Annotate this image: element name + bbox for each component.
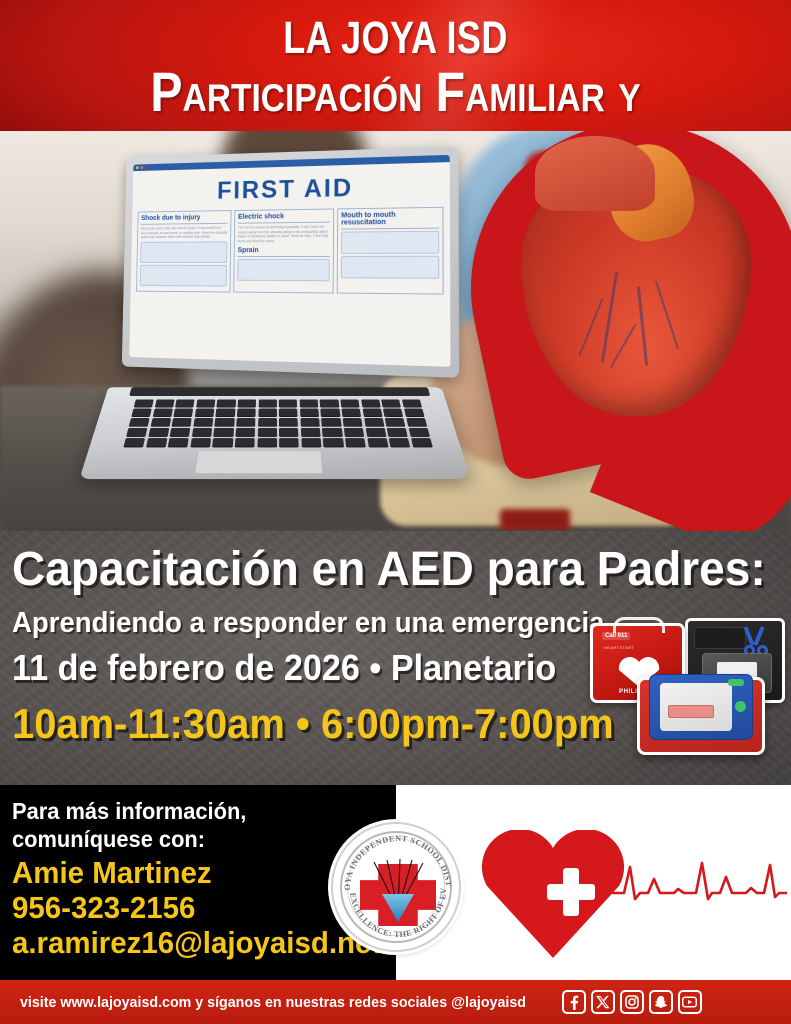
section-heading: Mouth to mouth resuscitation <box>341 211 439 230</box>
aed-status-strip <box>728 679 744 686</box>
event-subtitle: Aprendiendo a responder en una emergenci… <box>12 607 604 639</box>
heart-plus-icon <box>479 830 627 958</box>
laptop-screen: FIRST AID Shock due to injury Shock can … <box>129 155 450 367</box>
hero-photo: FIRST AID Shock due to injury Shock can … <box>0 131 791 531</box>
laptop-keyboard <box>123 399 432 447</box>
section-figure <box>140 241 227 263</box>
contact-email[interactable]: a.ramirez16@lajoyaisd.net <box>12 925 381 960</box>
x-twitter-icon[interactable] <box>591 990 615 1014</box>
photo-laptop: FIRST AID Shock due to injury Shock can … <box>95 151 455 531</box>
aed-kit-graphic: Call 911 HEARTSTART PHILIPS <box>585 615 785 765</box>
contact-name: Amie Martinez <box>12 855 212 890</box>
laptop-lid: FIRST AID Shock due to injury Shock can … <box>122 146 459 377</box>
facebook-icon[interactable] <box>562 990 586 1014</box>
section-figure <box>341 256 439 279</box>
section-figure <box>140 265 227 287</box>
footer-website-text: visite www.lajoyaisd.com y síganos en nu… <box>20 994 526 1011</box>
laptop-trackpad <box>194 450 323 474</box>
youtube-icon[interactable] <box>678 990 702 1014</box>
event-title: Capacitación en AED para Padres: <box>12 544 766 596</box>
aed-heartstart-label: HEARTSTART <box>604 645 634 650</box>
snapchat-icon[interactable] <box>649 990 673 1014</box>
district-seal-logo: LA JOYA INDEPENDENT SCHOOL DISTRICT EDUC… <box>331 822 461 952</box>
district-name: LA JOYA ISD <box>79 14 712 62</box>
ekg-waveform-icon <box>612 855 787 915</box>
section-body: Turn off the source of electricity if po… <box>238 225 330 244</box>
social-links <box>562 990 702 1014</box>
contact-intro-line1: Para más información, <box>12 798 246 825</box>
section-figure <box>237 259 330 281</box>
aed-call-911-label: Call 911 <box>602 632 630 640</box>
photo-aed-on-floor <box>500 509 570 531</box>
first-aid-section-electric: Electric shock Turn off the source of el… <box>233 208 334 293</box>
aed-device-body <box>649 674 753 740</box>
first-aid-section-shock: Shock due to injury Shock can occur afte… <box>136 210 232 292</box>
section-heading: Shock due to injury <box>141 214 228 225</box>
aed-device-face <box>660 683 732 731</box>
poster: LA JOYA ISD Participación Familiar y Com… <box>0 0 791 1024</box>
instagram-icon[interactable] <box>620 990 644 1014</box>
section-heading: Electric shock <box>238 213 330 224</box>
header-banner: LA JOYA ISD Participación Familiar y Com… <box>0 0 791 131</box>
first-aid-section-mouth: Mouth to mouth resuscitation <box>337 207 444 295</box>
aed-shock-button <box>735 701 746 712</box>
contact-intro-line2: comuníquese con: <box>12 826 205 853</box>
cross-horizontal-bar <box>547 884 595 900</box>
event-date-location: 11 de febrero de 2026 • Planetario <box>12 648 556 688</box>
aed-pouch <box>694 627 746 649</box>
footer-bar: visite www.lajoyaisd.com y síganos en nu… <box>0 980 791 1024</box>
section-figure <box>341 231 439 254</box>
aed-case-handle <box>613 617 665 633</box>
event-times: 10am-11:30am • 6:00pm-7:00pm <box>12 701 614 747</box>
section-heading: Sprain <box>238 247 330 257</box>
trauma-scissors-icon <box>741 626 775 656</box>
contact-phone[interactable]: 956-323-2156 <box>12 890 195 925</box>
laptop-hinge <box>129 387 430 396</box>
first-aid-columns: Shock due to injury Shock can occur afte… <box>131 201 451 294</box>
aed-device <box>637 677 765 755</box>
laptop-base <box>79 387 471 479</box>
section-body: Shock can occur after any severe injury.… <box>141 226 228 240</box>
browser-titlebar <box>133 155 449 171</box>
seal-emblem <box>360 854 436 926</box>
department-name: Participación Familiar y Comunitaria <box>55 62 735 131</box>
